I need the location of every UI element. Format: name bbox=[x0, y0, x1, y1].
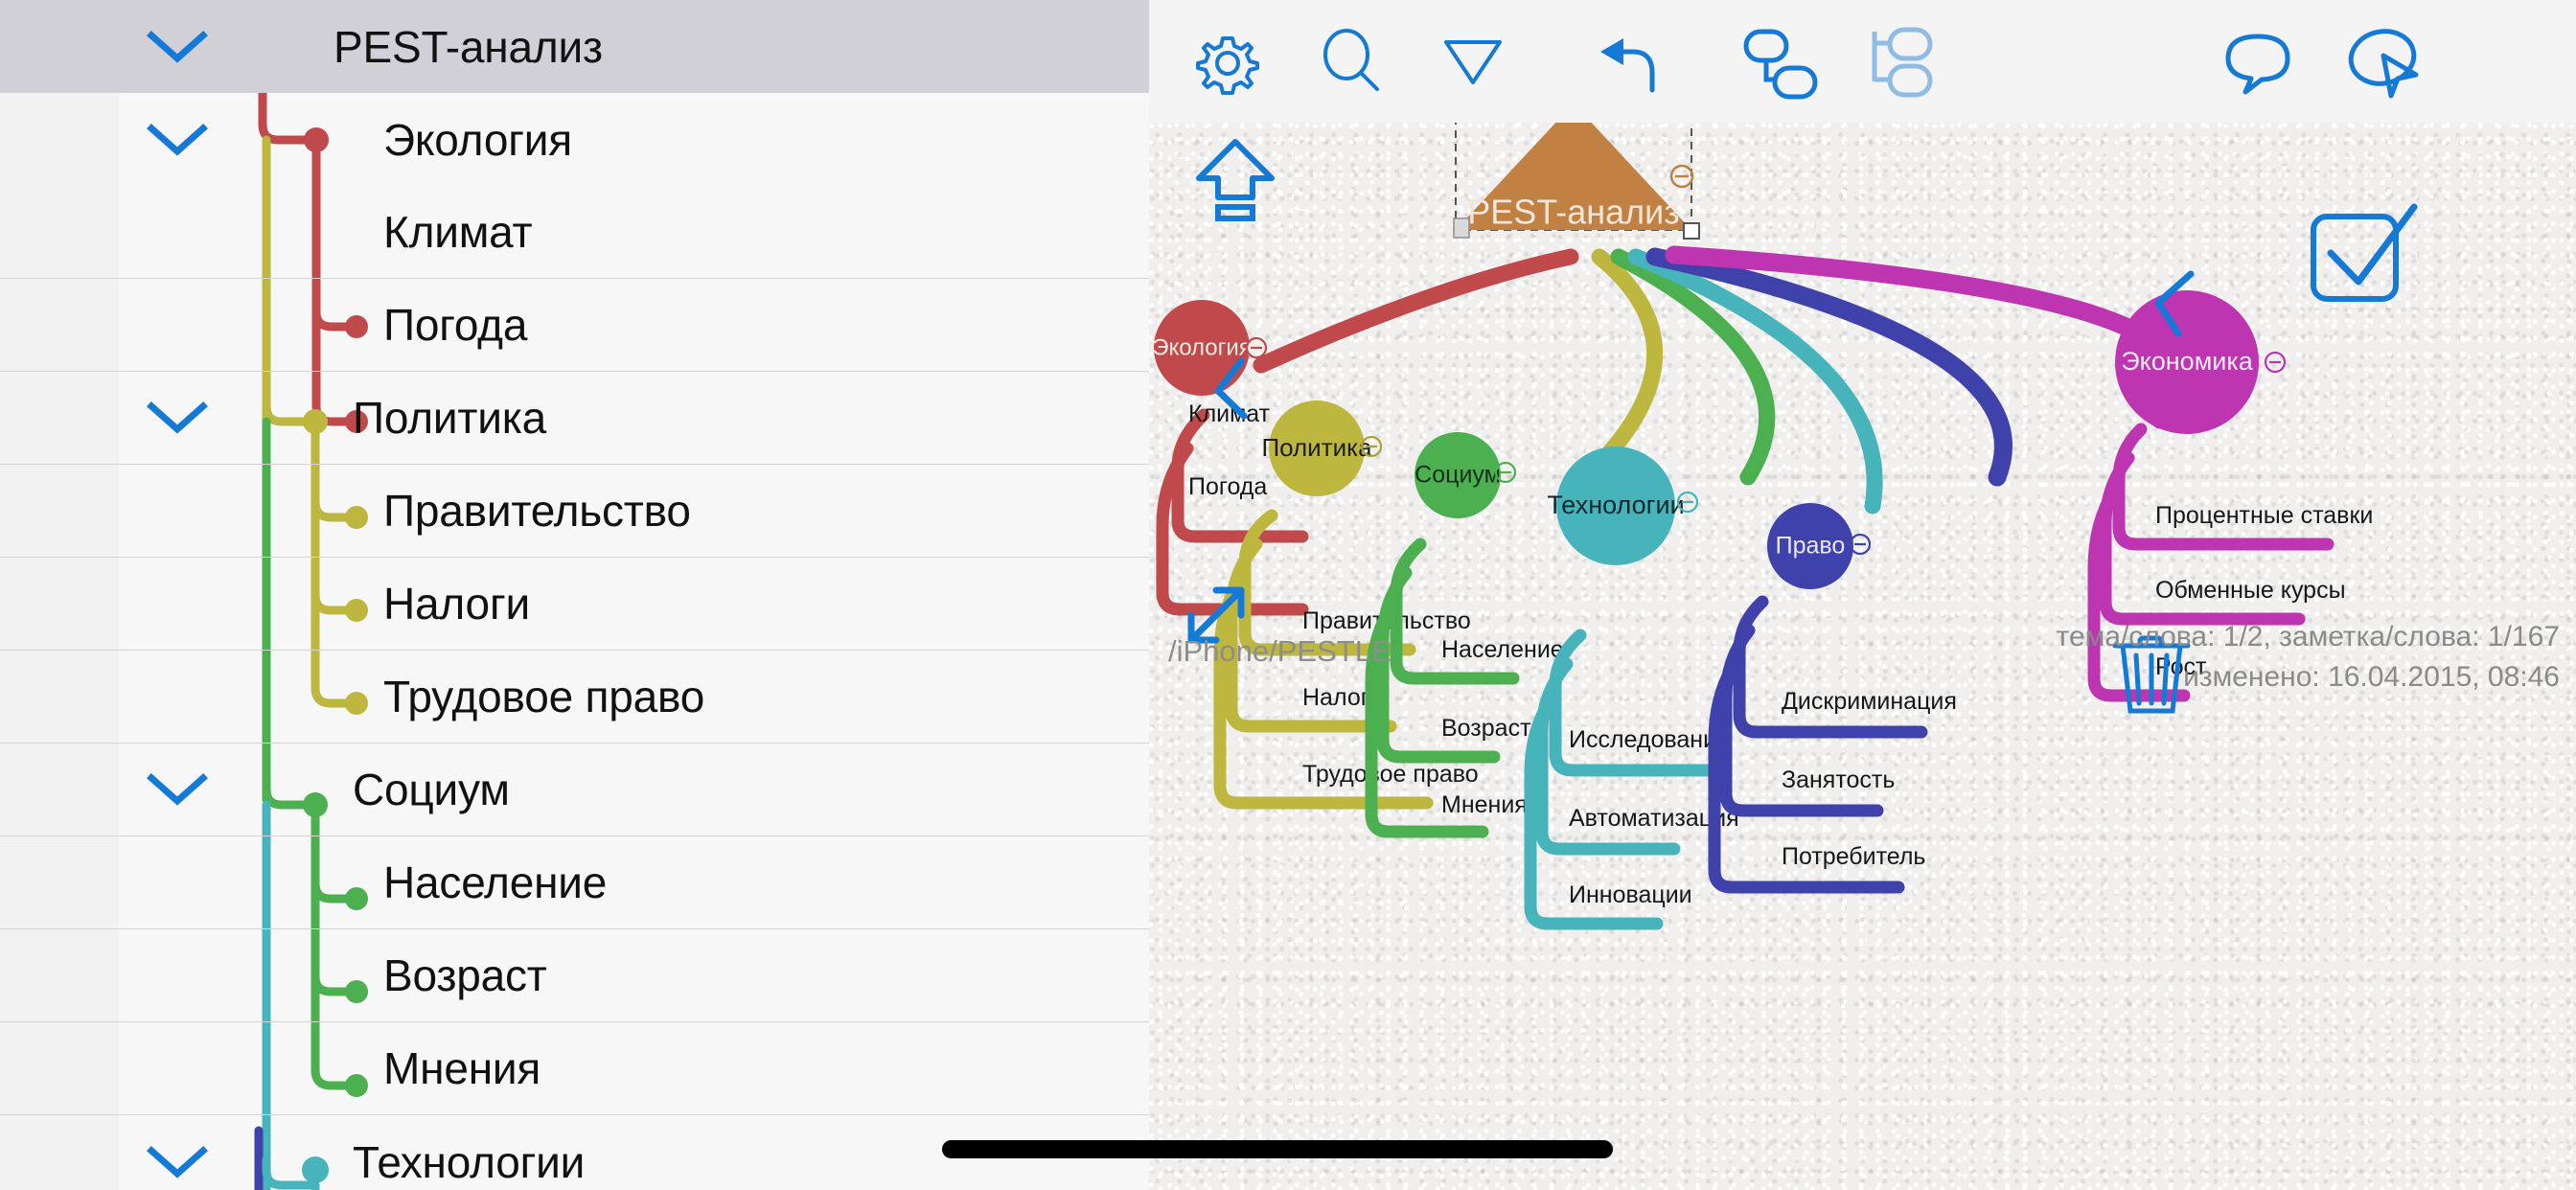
leaf-label: Обменные курсы bbox=[2155, 577, 2346, 604]
add-sibling-node-icon[interactable] bbox=[1841, 0, 1964, 123]
status-counts: тема/слова: 1/2, заметка/слова: 1/167 bbox=[2057, 621, 2560, 652]
leaf-label: Дискриминация bbox=[1782, 688, 1957, 715]
leaf-label: Занятость bbox=[1782, 767, 1895, 793]
outline-row-label: Население bbox=[383, 857, 607, 908]
leaf-label: Исследования bbox=[1569, 726, 1730, 753]
chevron-down-icon[interactable] bbox=[146, 1143, 209, 1181]
filter-icon[interactable] bbox=[1412, 0, 1534, 123]
promote-node-button[interactable] bbox=[1199, 142, 1272, 218]
outline-row-label: Экология bbox=[383, 114, 572, 166]
outline-row-label: Трудовое право bbox=[383, 671, 704, 722]
outline-row-label: Политика bbox=[353, 392, 546, 444]
outline-row-2[interactable]: Климат bbox=[0, 186, 1149, 279]
outline-row-label: Погода bbox=[383, 299, 527, 351]
outline-row-label: Налоги bbox=[383, 578, 530, 629]
note-handle-icon bbox=[1454, 218, 1469, 238]
outline-row-label: Климат bbox=[383, 206, 532, 258]
home-indicator bbox=[942, 1140, 1613, 1158]
leaf-label: Трудовое право bbox=[1302, 761, 1479, 788]
settings-icon[interactable] bbox=[1166, 0, 1289, 123]
leaf-label: Население bbox=[1441, 636, 1564, 663]
node-politics-label: Политика bbox=[1261, 433, 1372, 462]
toolbar[interactable] bbox=[1149, 0, 2576, 123]
branch-law: Право Дискриминация Занятость Потребител… bbox=[1714, 503, 1957, 887]
branch-technology: Технологии Исследования Автоматизация Ин… bbox=[1530, 446, 1739, 924]
outline-row-label: Возраст bbox=[383, 950, 547, 1001]
undo-icon[interactable] bbox=[1565, 0, 1688, 123]
outline-row-1[interactable]: Экология bbox=[0, 93, 1149, 186]
outline-row-0[interactable]: PEST-анализ bbox=[0, 0, 1149, 93]
leaf-label: Погода bbox=[1188, 473, 1267, 500]
outline-row-label: Мнения bbox=[383, 1042, 540, 1094]
search-icon[interactable] bbox=[1289, 0, 1412, 123]
node-economy-label: Экономика bbox=[2121, 347, 2254, 376]
outline-row-7[interactable]: Трудовое право bbox=[0, 651, 1149, 744]
leaf-label: Мнения bbox=[1441, 791, 1528, 818]
outline-row-label: Правительство bbox=[383, 485, 691, 537]
status-modified: изменено: 16.04.2015, 08:46 bbox=[2183, 661, 2560, 693]
leaf-label: Инновации bbox=[1569, 881, 1692, 908]
outline-row-label: Социум bbox=[353, 764, 510, 815]
node-society-label: Социум bbox=[1414, 462, 1501, 489]
root-selection-box: PEST-анализ bbox=[1454, 123, 1699, 239]
edge-root-ecology bbox=[1261, 257, 1571, 365]
outline-row-11[interactable]: Мнения bbox=[0, 1022, 1149, 1115]
node-ecology-label: Экология bbox=[1152, 334, 1252, 360]
chevron-down-icon[interactable] bbox=[146, 28, 209, 66]
edge-root-politics bbox=[1599, 257, 1655, 453]
outline-row-label: Технологии bbox=[353, 1136, 585, 1188]
outline-sidebar[interactable]: PEST-анализ Экология Климат Погода Полит… bbox=[0, 0, 1149, 1190]
node-law-label: Право bbox=[1776, 533, 1846, 560]
mindmap-canvas[interactable]: PEST-анализ Экология Климат Погода bbox=[1149, 123, 2576, 1190]
chevron-down-icon[interactable] bbox=[146, 770, 209, 809]
outline-row-8[interactable]: Социум bbox=[0, 744, 1149, 836]
outline-row-5[interactable]: Правительство bbox=[0, 465, 1149, 558]
outline-row-3[interactable]: Погода bbox=[0, 279, 1149, 372]
root-node-label: PEST-анализ bbox=[1467, 193, 1680, 232]
outline-row-9[interactable]: Население bbox=[0, 836, 1149, 929]
outline-row-label: PEST-анализ bbox=[333, 21, 603, 73]
leaf-label: Возраст bbox=[1441, 715, 1531, 742]
mindmap-pane[interactable]: PEST-анализ Экология Климат Погода bbox=[1149, 0, 2576, 1190]
chevron-down-icon[interactable] bbox=[146, 399, 209, 437]
mindmap-graphics: PEST-анализ Экология Климат Погода bbox=[1149, 123, 2576, 1190]
outline-row-4[interactable]: Политика bbox=[0, 372, 1149, 465]
resize-handle bbox=[1684, 223, 1699, 239]
leaf-label: Потребитель bbox=[1782, 843, 1925, 870]
add-child-node-icon[interactable] bbox=[1716, 0, 1839, 123]
note-icon[interactable] bbox=[2196, 0, 2319, 123]
outline-row-6[interactable]: Налоги bbox=[0, 558, 1149, 651]
select-cursor-icon[interactable] bbox=[2323, 0, 2446, 123]
checkbox-checked-icon[interactable] bbox=[2313, 207, 2414, 299]
chevron-down-icon[interactable] bbox=[146, 121, 209, 159]
node-technology-label: Технологии bbox=[1547, 491, 1684, 519]
document-path: /iPhone/PESTLE bbox=[1168, 634, 1391, 668]
leaf-label: Процентные ставки bbox=[2155, 502, 2373, 529]
outline-row-10[interactable]: Возраст bbox=[0, 929, 1149, 1022]
